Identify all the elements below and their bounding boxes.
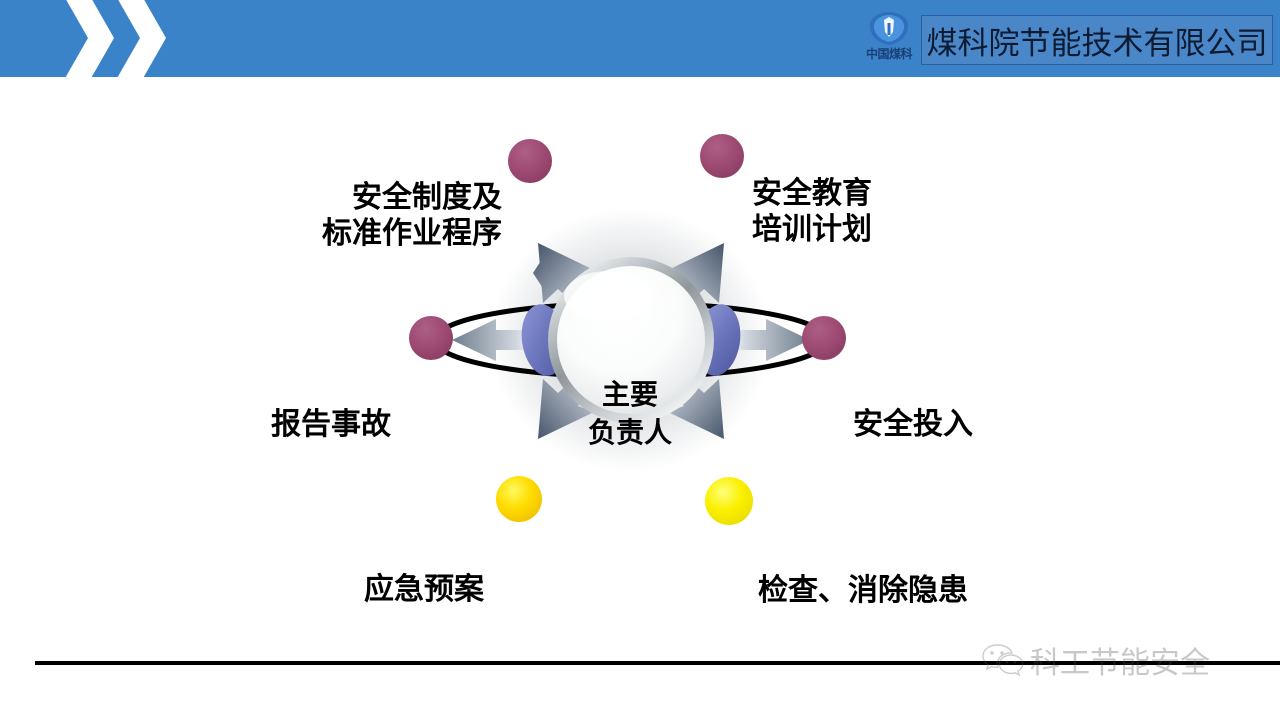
- node-label-safety-system-line2: 标准作业程序: [302, 216, 502, 252]
- node-label-safety-system: 安全制度及 标准作业程序: [302, 180, 502, 252]
- node-label-safety-education-line1: 安全教育: [752, 176, 952, 212]
- node-label-safety-education: 安全教育 培训计划: [752, 176, 952, 248]
- center-sphere: [548, 257, 714, 423]
- node-dot-report-accident: [409, 316, 453, 360]
- coal-science-shield-icon: [867, 11, 911, 47]
- company-logo: 中国煤科: [858, 11, 920, 69]
- double-chevron-right-icon-2: [104, 0, 178, 77]
- page-title: 煤科院节能技术有限公司: [927, 18, 1268, 63]
- wechat-icon: [980, 642, 1026, 678]
- footer-watermark: 科工节能安全: [980, 637, 1270, 683]
- node-dot-safety-education: [700, 134, 744, 178]
- node-dot-safety-system: [508, 139, 552, 183]
- node-label-safety-education-line2: 培训计划: [752, 212, 952, 248]
- node-dot-safety-investment: [802, 316, 846, 360]
- diagram-graphics: [0, 77, 1280, 637]
- node-label-safety-investment: 安全投入: [853, 407, 973, 443]
- footer-watermark-text: 科工节能安全: [1030, 638, 1210, 682]
- radial-diagram: 安全制度及 标准作业程序 安全教育 培训计划 报告事故 安全投入 应急预案 检查…: [0, 77, 1280, 637]
- node-dot-inspect-hazard: [705, 477, 753, 525]
- node-label-inspect-hazard: 检查、消除隐患: [758, 573, 968, 609]
- node-label-safety-system-line1: 安全制度及: [302, 180, 502, 216]
- node-label-emergency-plan: 应急预案: [364, 572, 484, 608]
- header-bar: 中国煤科 煤科院节能技术有限公司: [0, 0, 1280, 77]
- node-dot-emergency-plan: [496, 476, 542, 522]
- header-title-box: 煤科院节能技术有限公司: [921, 15, 1273, 65]
- node-label-report-accident: 报告事故: [271, 407, 391, 443]
- slide-canvas: 中国煤科 煤科院节能技术有限公司: [0, 0, 1280, 720]
- logo-text: 中国煤科: [858, 47, 920, 61]
